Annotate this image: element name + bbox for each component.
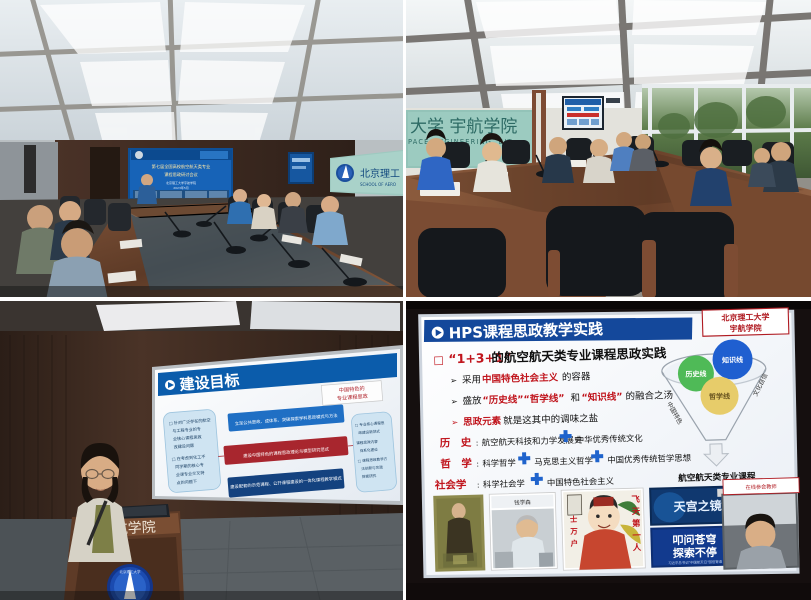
bullet-2-seg-3: “知识线”: [581, 391, 622, 404]
svg-text:人: 人: [633, 542, 642, 552]
panel-top-right-attendees: 大学 宇航学院 PACE ENGINEERING, BIT: [406, 0, 811, 297]
svg-text:一: 一: [632, 530, 641, 540]
tiangong-caption: 天宫之镜: [673, 498, 721, 514]
svg-text:第七届全国高校航空航天类专业: 第七届全国高校航空航天类专业: [152, 163, 211, 170]
row-label-1: 哲 学: [440, 457, 472, 471]
svg-text:2023年5月: 2023年5月: [173, 185, 189, 190]
svg-text:北京理工大学: 北京理工大学: [120, 569, 141, 574]
panel-bottom-right-slide: HPS课程思政教学实践 北京理工大学 宇航学院 □ “1+3+1” 的航空航天类…: [406, 301, 811, 600]
svg-text:北京理工大学宇航学院: 北京理工大学宇航学院: [166, 180, 196, 185]
row-0-part-1: 中华优秀传统文化: [576, 433, 644, 445]
bullet-marker-2: ➢: [450, 397, 457, 407]
svg-text:户: 户: [570, 539, 578, 548]
svg-text:飞: 飞: [631, 494, 640, 504]
bullet-1-seg-0: 采用: [462, 374, 481, 386]
blue-banner-line2: 探索不停: [673, 545, 717, 560]
row-label-2: 社会学: [434, 478, 467, 492]
svg-text:课程思政研讨会议: 课程思政研讨会议: [164, 171, 198, 178]
row-1-part-1: 马克思主义哲学: [534, 455, 593, 467]
bullet-3-seg-0: 思政元素: [463, 415, 502, 428]
panel-top-left-conference-room: 第七届全国高校航空航天类专业 课程思政研讨会议 北京理工大学宇航学院 2023年…: [0, 0, 403, 297]
row-colon-1: :: [476, 460, 479, 469]
bullet-2-seg-0: 盛放: [462, 394, 482, 407]
bullet-marker-1: ➢: [450, 376, 457, 386]
svg-text:北京理工: 北京理工: [360, 167, 400, 180]
blue-banner-line1: 叩问苍穹: [672, 532, 716, 547]
panel-bottom-left-presenter: 建设目标 中国特色的 专业课程思政 □ 针对广泛存在的航空 与工程专业的专 业核…: [0, 301, 403, 600]
row-colon-2: :: [477, 481, 480, 490]
photo-collage: 第七届全国高校航空航天类专业 课程思政研讨会议 北京理工大学宇航学院 2023年…: [0, 0, 811, 600]
badge-line1-br: 北京理工大学: [721, 311, 769, 322]
bullet-1-seg-1: 中国特色社会主义: [482, 371, 559, 385]
row-colon-0: :: [476, 439, 479, 448]
circle-label-history: 历史线: [685, 369, 706, 379]
circle-label-knowledge: 知识线: [721, 355, 743, 365]
svg-text:士: 士: [570, 515, 578, 524]
circle-label-philosophy: 哲学线: [709, 392, 730, 402]
bullet-1-seg-2: 的容器: [562, 370, 591, 383]
row-2-part-0: 科学社会学: [483, 478, 525, 489]
svg-text:万: 万: [569, 527, 578, 536]
section-marker-br: □: [433, 353, 444, 366]
bullet-marker-3: ➢: [451, 418, 458, 428]
bullet-2-seg-2: 和: [570, 393, 580, 404]
row-2-part-1: 中国特色社会主义: [547, 476, 615, 488]
svg-text:SCHOOL OF AERO: SCHOOL OF AERO: [360, 182, 396, 187]
badge-line2-br: 宇航学院: [730, 323, 762, 334]
svg-text:大学 宇航学院: 大学 宇航学院: [410, 117, 517, 137]
bullet-2-seg-4: 的融合之汤: [625, 389, 673, 402]
row-1-part-0: 科学哲学: [482, 458, 516, 469]
svg-text:天: 天: [632, 506, 641, 516]
svg-text:第: 第: [632, 518, 641, 528]
row-label-0: 历 史: [440, 436, 472, 450]
bullet-2-seg-1: “历史线”“哲学线”: [482, 392, 564, 406]
